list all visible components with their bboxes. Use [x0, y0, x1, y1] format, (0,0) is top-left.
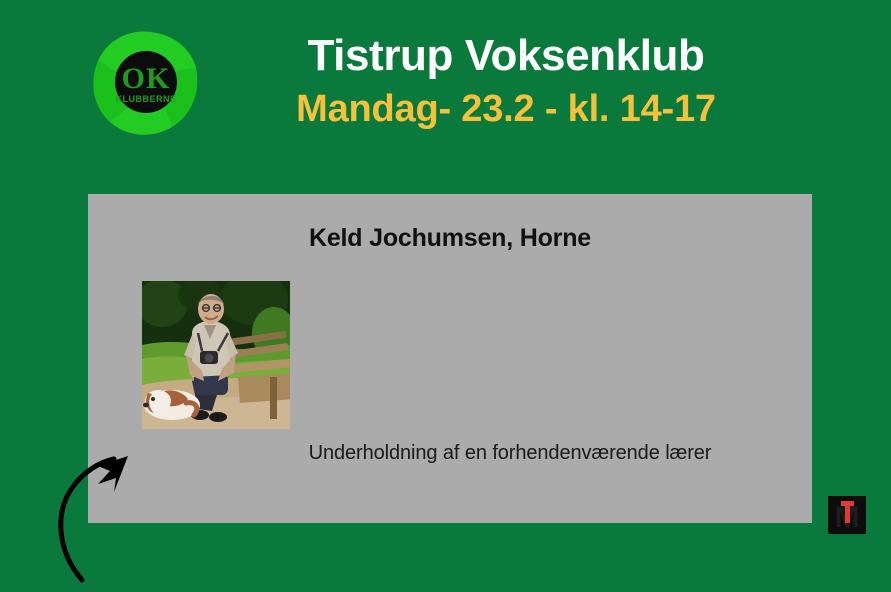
- svg-text:OK: OK: [122, 62, 171, 95]
- presenter-photo: [142, 281, 290, 429]
- event-datetime: Mandag- 23.2 - kl. 14-17: [226, 87, 786, 131]
- poster-canvas: OK KLUBBERNE Tistrup Voksenklub Mandag- …: [0, 0, 891, 592]
- title-block: Tistrup Voksenklub Mandag- 23.2 - kl. 14…: [226, 30, 786, 131]
- svg-text:KLUBBERNE: KLUBBERNE: [115, 94, 176, 104]
- presenter-name: Keld Jochumsen, Horne: [88, 224, 812, 253]
- m-monogram-logo: M: [828, 496, 866, 534]
- page-title: Tistrup Voksenklub: [226, 30, 786, 81]
- ok-klubberne-logo: OK KLUBBERNE: [92, 28, 200, 136]
- poster-header: OK KLUBBERNE Tistrup Voksenklub Mandag- …: [0, 0, 891, 175]
- content-panel: Keld Jochumsen, Horne: [88, 194, 812, 523]
- logo-wordmark: OK KLUBBERNE: [115, 62, 176, 104]
- presentation-caption: Underholdning af en forhendenværende lær…: [208, 442, 812, 465]
